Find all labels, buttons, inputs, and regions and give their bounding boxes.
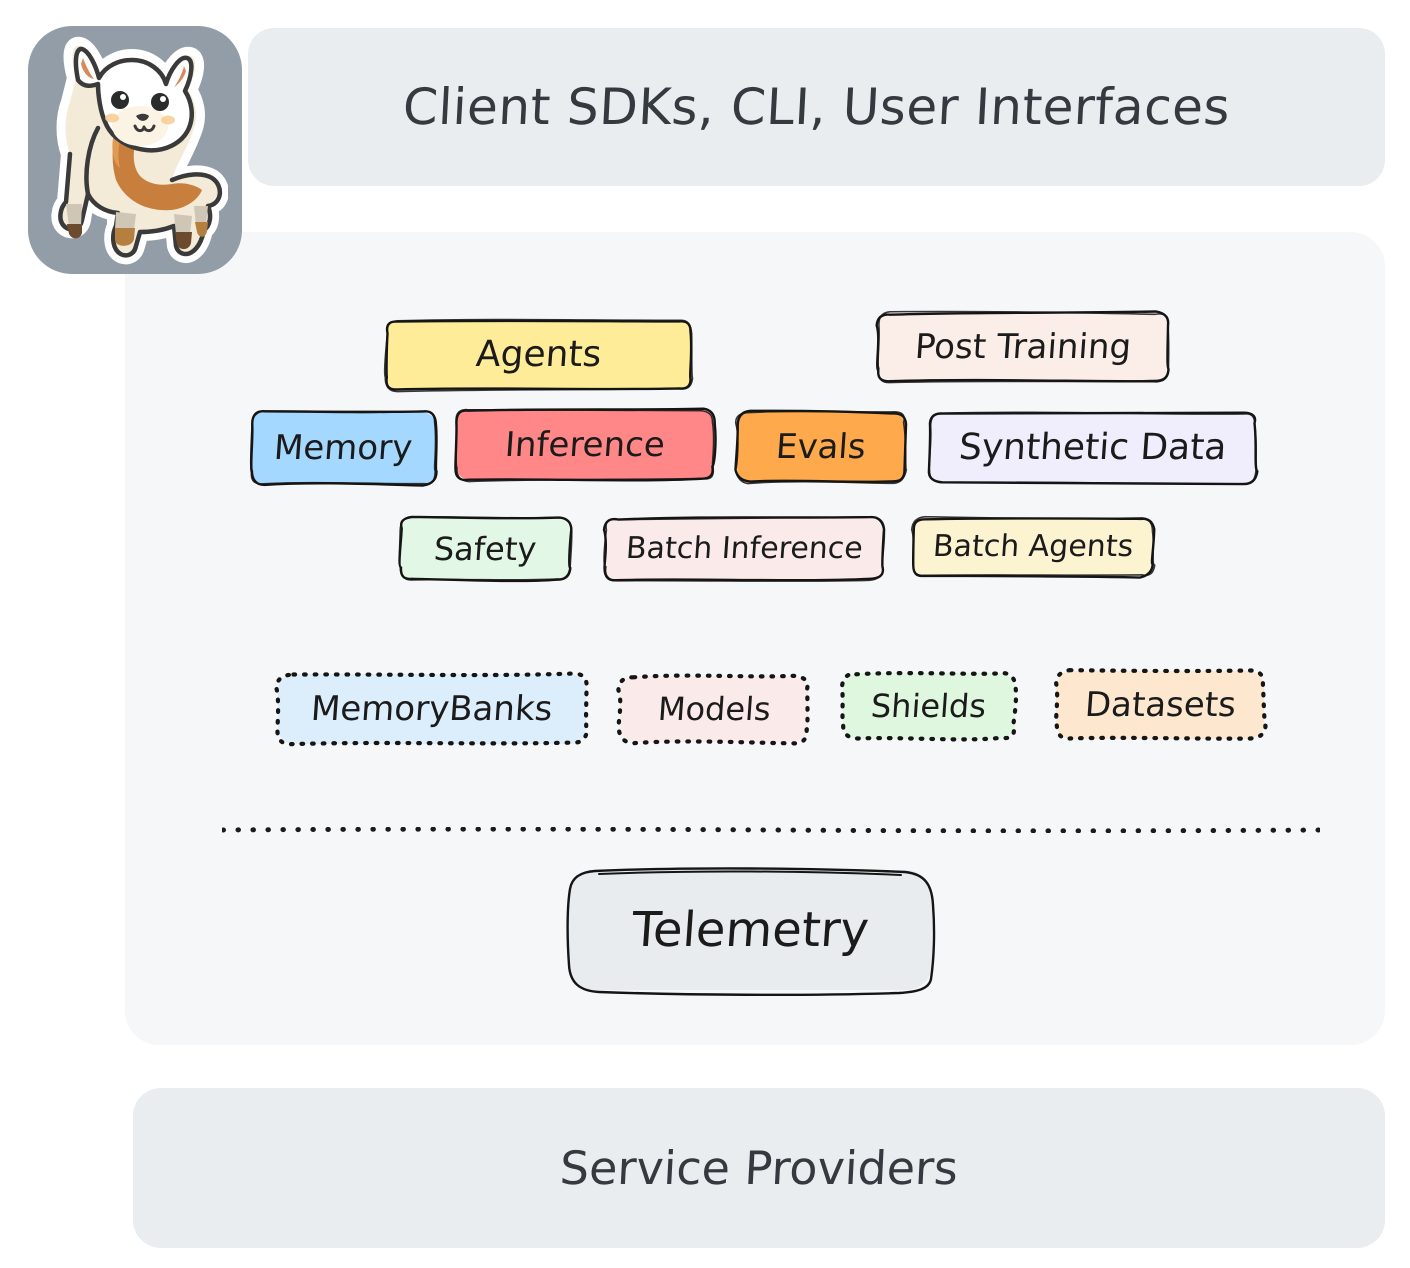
api-agents[interactable]: Agents [386, 320, 692, 390]
box-label: Models [657, 693, 772, 725]
box-label: Batch Inference [625, 534, 864, 564]
box-label: Inference [504, 428, 666, 462]
box-label: MemoryBanks [310, 692, 554, 726]
header-title: Client SDKs, CLI, User Interfaces [401, 78, 1231, 136]
api-safety[interactable]: Safety [400, 518, 570, 580]
box-label: Datasets [1083, 688, 1236, 722]
box-label: Shields [870, 690, 987, 722]
section-divider [222, 818, 1320, 824]
telemetry-label: Telemetry [630, 906, 870, 954]
box-label: Evals [775, 430, 867, 464]
resource-shields[interactable]: Shields [843, 673, 1015, 739]
api-evals[interactable]: Evals [737, 412, 905, 482]
box-label: Safety [433, 533, 538, 565]
box-label: Synthetic Data [958, 430, 1228, 466]
resource-memorybanks[interactable]: MemoryBanks [278, 674, 586, 744]
resource-datasets[interactable]: Datasets [1056, 671, 1264, 739]
api-inference[interactable]: Inference [456, 410, 714, 480]
api-batch-agents[interactable]: Batch Agents [913, 518, 1153, 576]
footer-title: Service Providers [559, 1141, 960, 1195]
llama-logo-icon [36, 34, 228, 266]
resource-models[interactable]: Models [620, 676, 808, 742]
box-label: Memory [273, 431, 414, 465]
api-memory[interactable]: Memory [251, 412, 436, 484]
telemetry-box[interactable]: Telemetry [568, 870, 932, 990]
box-label: Agents [475, 337, 603, 373]
footer-bar: Service Providers [133, 1088, 1385, 1248]
api-batch-inference[interactable]: Batch Inference [605, 518, 883, 580]
header-bar: Client SDKs, CLI, User Interfaces [248, 28, 1385, 186]
box-label: Batch Agents [932, 532, 1134, 562]
box-label: Post Training [914, 330, 1132, 364]
api-synthetic-data[interactable]: Synthetic Data [930, 413, 1256, 483]
api-post-training[interactable]: Post Training [878, 313, 1168, 381]
